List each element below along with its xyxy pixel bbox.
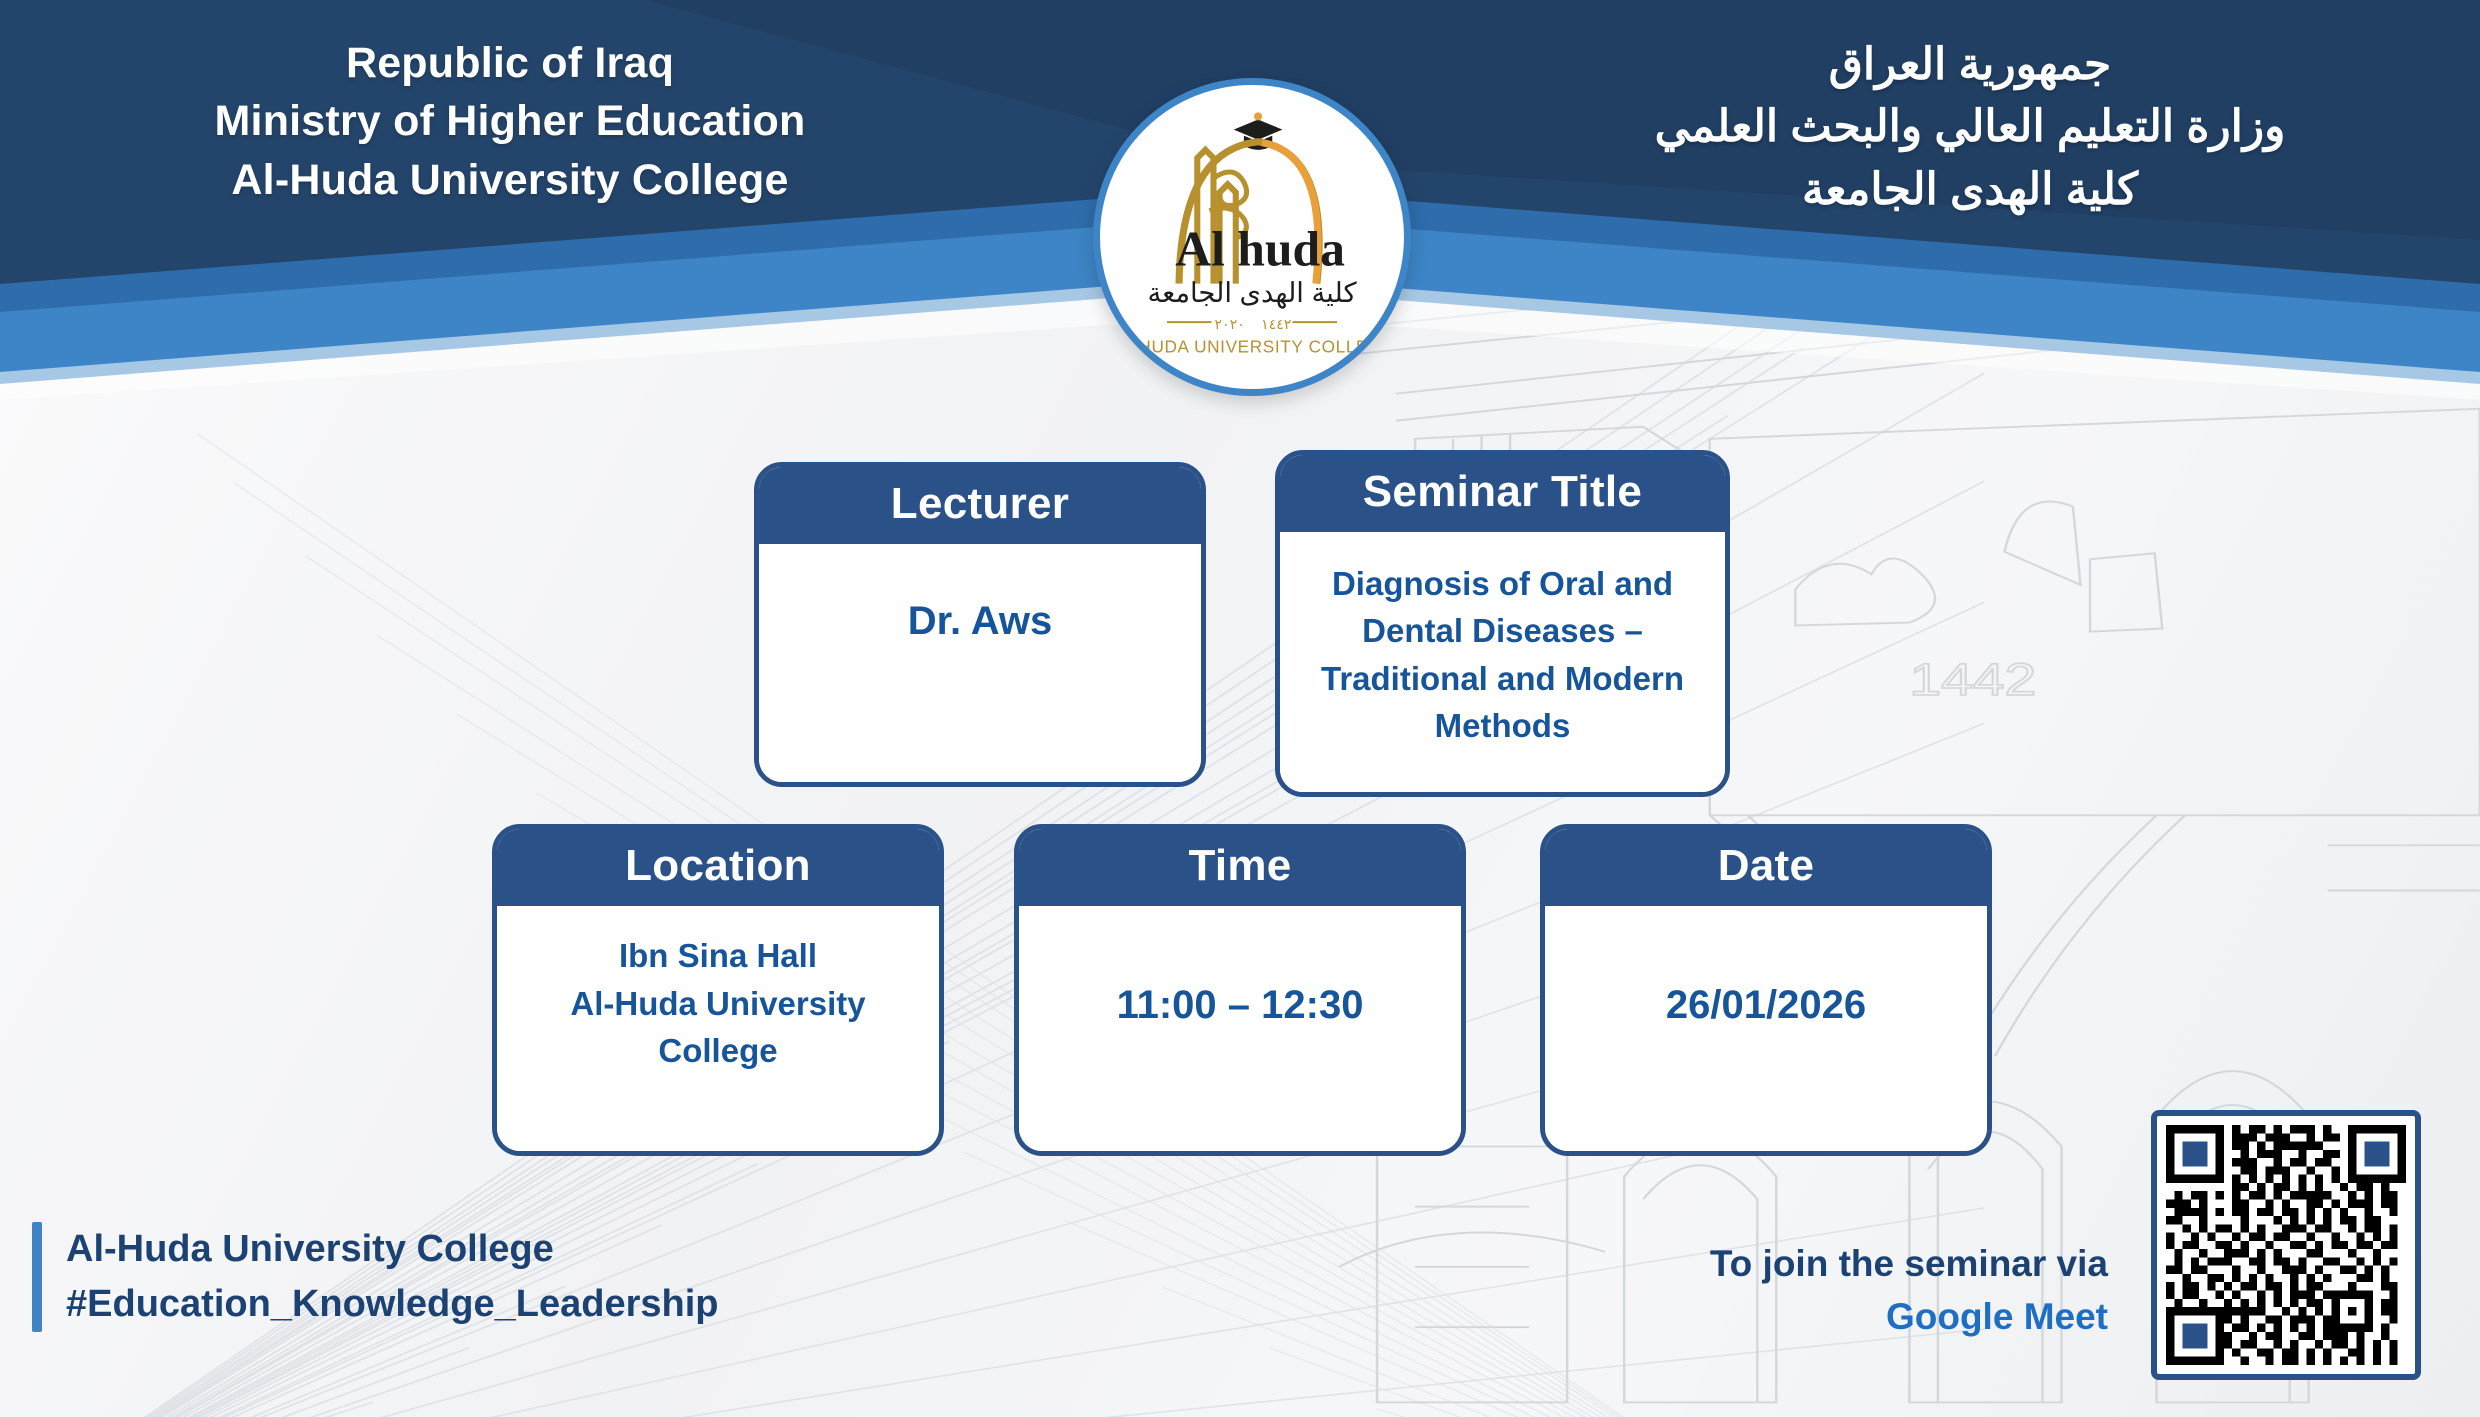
header-title-english: Republic of Iraq Ministry of Higher Educ…: [130, 34, 890, 209]
footer-accent-bar: [32, 1222, 42, 1332]
info-card-seminar-title: Seminar Title Diagnosis of Oral and Dent…: [1275, 450, 1730, 797]
card-value-seminar: Diagnosis of Oral and Dental Diseases – …: [1280, 532, 1725, 792]
card-value-time: 11:00 – 12:30: [1019, 906, 1461, 1151]
join-instructions: To join the seminar via Google Meet: [1710, 1238, 2108, 1343]
card-value-date: 26/01/2026: [1545, 906, 1987, 1151]
qr-code-icon[interactable]: [2166, 1125, 2406, 1365]
card-title-date: Date: [1545, 829, 1987, 906]
header-ar-line-2: وزارة التعليم العالي والبحث العلمي: [1590, 96, 2350, 158]
logo-graphic: Al huda كلية الهدى الجامعة ٢٠٢٠ ١٤٤٢ AL-…: [1100, 85, 1404, 389]
logo-caption: AL-HUDA UNIVERSITY COLLEGE: [1110, 337, 1394, 357]
university-logo: Al huda كلية الهدى الجامعة ٢٠٢٠ ١٤٤٢ AL-…: [1093, 78, 1411, 396]
join-text-line-1: To join the seminar via: [1710, 1238, 2108, 1291]
header-ar-line-3: كلية الهدى الجامعة: [1590, 159, 2350, 221]
logo-year-hijri: ١٤٤٢: [1261, 317, 1291, 333]
card-value-location: Ibn Sina HallAl-Huda University College: [497, 906, 939, 1151]
info-card-location: Location Ibn Sina HallAl-Huda University…: [492, 824, 944, 1156]
header-en-line-2: Ministry of Higher Education: [130, 92, 890, 150]
info-card-lecturer: Lecturer Dr. Aws: [754, 462, 1206, 787]
qr-code[interactable]: [2151, 1110, 2421, 1380]
join-text-line-2: Google Meet: [1710, 1291, 2108, 1344]
logo-wordmark: Al huda: [1175, 221, 1345, 276]
watermark-year: 1442: [1910, 653, 2037, 704]
card-value-lecturer: Dr. Aws: [759, 544, 1201, 782]
info-card-time: Time 11:00 – 12:30: [1014, 824, 1466, 1156]
seminar-poster: 1442 Republic of Iraq Ministry of Higher…: [0, 0, 2480, 1417]
header-en-line-3: Al-Huda University College: [130, 151, 890, 209]
card-title-time: Time: [1019, 829, 1461, 906]
card-title-lecturer: Lecturer: [759, 467, 1201, 544]
header-title-arabic: جمهورية العراق وزارة التعليم العالي والب…: [1590, 34, 2350, 221]
footer-college-name: Al-Huda University College: [66, 1222, 718, 1277]
footer-branding: Al-Huda University College #Education_Kn…: [32, 1222, 718, 1332]
footer-text-block: Al-Huda University College #Education_Kn…: [66, 1222, 718, 1332]
header-en-line-1: Republic of Iraq: [130, 34, 890, 92]
logo-arabic-name: كلية الهدى الجامعة: [1148, 277, 1357, 309]
footer-hashtag: #Education_Knowledge_Leadership: [66, 1277, 718, 1332]
logo-year-ad: ٢٠٢٠: [1214, 317, 1244, 333]
header-ar-line-1: جمهورية العراق: [1590, 34, 2350, 96]
card-title-seminar: Seminar Title: [1280, 455, 1725, 532]
info-card-date: Date 26/01/2026: [1540, 824, 1992, 1156]
card-title-location: Location: [497, 829, 939, 906]
